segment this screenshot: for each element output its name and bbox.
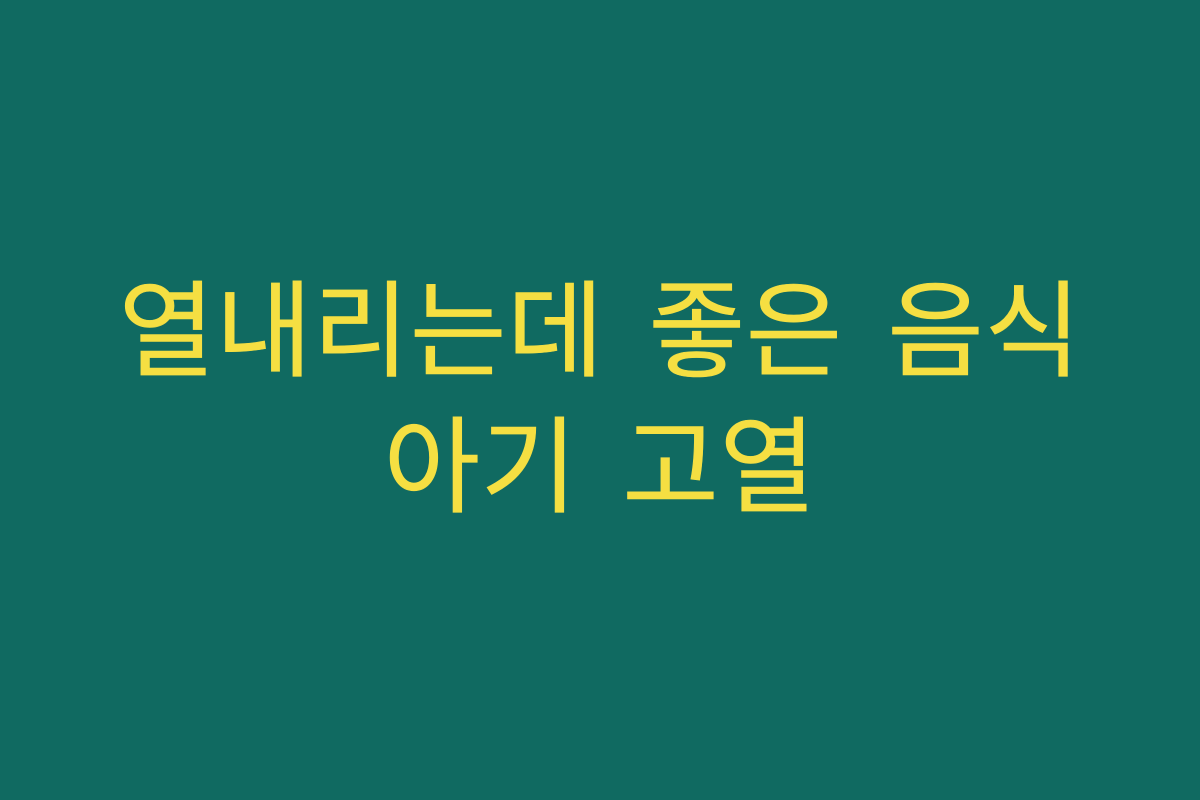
banner-canvas: 열내리는데 좋은 음식 아기 고열 (0, 0, 1200, 800)
headline-text: 열내리는데 좋은 음식 아기 고열 (80, 264, 1120, 536)
